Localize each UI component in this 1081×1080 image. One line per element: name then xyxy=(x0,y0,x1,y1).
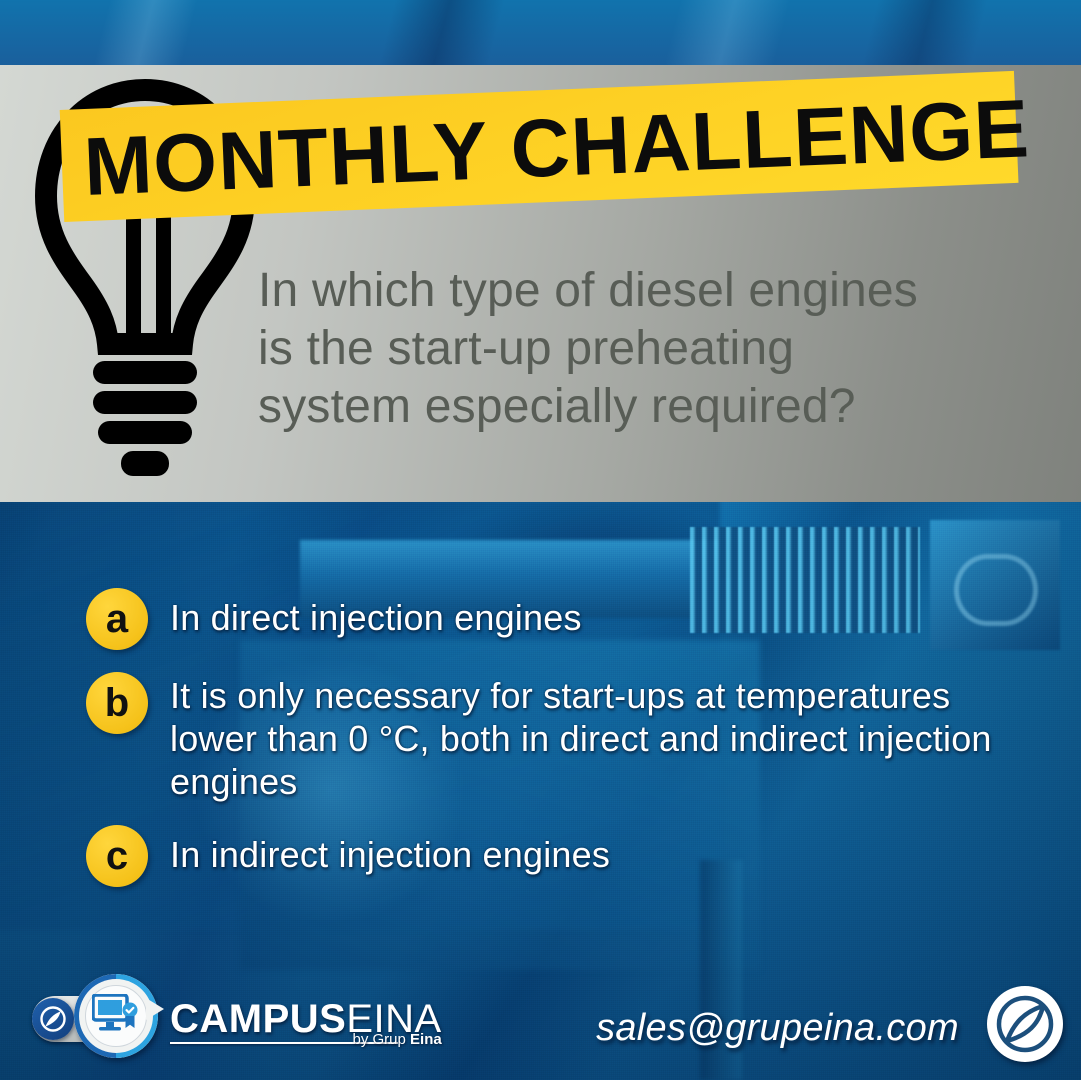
monthly-challenge-poster: MONTHLY CHALLENGE In which type of diese… xyxy=(0,0,1081,1080)
logo-pointer-shape xyxy=(146,998,164,1020)
answer-option-b[interactable]: b It is only necessary for start-ups at … xyxy=(86,672,1006,803)
question-line-1: In which type of diesel engines xyxy=(258,262,1048,320)
brand-name-primary: CAMPUS xyxy=(170,997,346,1041)
brand-tagline-prefix: by Grup xyxy=(352,1031,410,1048)
answer-option-c[interactable]: c In indirect injection engines xyxy=(86,825,1006,887)
option-letter-badge-b[interactable]: b xyxy=(86,672,148,734)
corner-grup-eina-logo[interactable] xyxy=(987,986,1063,1062)
question-text: In which type of diesel engines is the s… xyxy=(258,262,1048,436)
footer: CAMPUSEINA by Grup Eina sales@grupeina.c… xyxy=(0,960,1081,1080)
option-letter-badge-c[interactable]: c xyxy=(86,825,148,887)
option-text-c: In indirect injection engines xyxy=(170,825,610,876)
answer-option-a[interactable]: a In direct injection engines xyxy=(86,588,1006,650)
brand-tagline: by Grup Eina xyxy=(346,1031,441,1048)
option-text-b: It is only necessary for start-ups at te… xyxy=(170,672,1006,803)
grup-eina-mark-icon xyxy=(995,994,1055,1054)
brand-tagline-bold: Eina xyxy=(410,1031,442,1048)
contact-email[interactable]: sales@grupeina.com xyxy=(596,1007,959,1050)
option-letter-badge-a[interactable]: a xyxy=(86,588,148,650)
answer-options-list: a In direct injection engines b It is on… xyxy=(86,588,1006,909)
brand-wordmark: CAMPUSEINA by Grup Eina xyxy=(170,998,442,1044)
option-text-a: In direct injection engines xyxy=(170,588,582,639)
question-line-2: is the start-up preheating xyxy=(258,320,1048,378)
grup-eina-mark-icon xyxy=(32,998,74,1040)
top-background-streaks xyxy=(0,0,1081,66)
question-line-3: system especially required? xyxy=(258,378,1048,436)
